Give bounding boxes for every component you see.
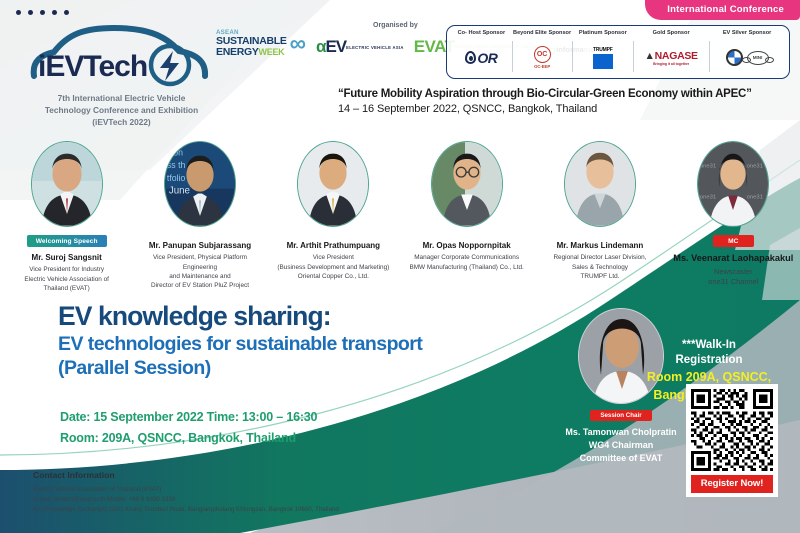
walkin-line1: ***Walk-In [634, 338, 784, 353]
session-chair-badge: Session Chair [590, 410, 651, 421]
session-title: EV knowledge sharing: EV technologies fo… [58, 302, 422, 381]
session-room-line: Room: 209A, QSNCC, Bangkok, Thailand [60, 428, 317, 449]
theme-line2: 14 – 16 September 2022, QSNCC, Bangkok, … [338, 103, 752, 115]
contact-heading: Contact Information [33, 470, 339, 480]
speaker-photo-2: tion ss th tfolio June [164, 141, 236, 227]
qr-code-icon[interactable] [691, 389, 773, 471]
speaker-name-1: Mr. Suroj Sangsnit [32, 253, 102, 263]
session-datetime: Date: 15 September 2022 Time: 13:00 – 16… [60, 407, 317, 448]
oc-eep-caption: OC-EEP [534, 64, 551, 69]
session-title-line1: EV knowledge sharing: [58, 302, 422, 332]
sponsor-col-beyond-elite: Beyond Elite Sponsor OC OC-EEP [512, 30, 573, 76]
svg-text:one31: one31 [700, 194, 716, 200]
contact-line1: Electric Vehicle Association of Thailand… [33, 485, 339, 495]
svg-text:tion: tion [169, 148, 183, 158]
speaker-photo-3 [297, 141, 369, 227]
session-title-line3: (Parallel Session) [58, 356, 422, 381]
oil-drop-icon [465, 51, 476, 64]
ievtech-logo-subtitle: 7th International Electric Vehicle Techn… [24, 92, 219, 128]
ievtech-logo-block: iEVTech 7th International Electric Vehic… [24, 24, 224, 128]
sponsor-col-ev-silver: EV Silver Sponsor MINI [709, 30, 785, 76]
contact-information: Contact Information Electric Vehicle Ass… [33, 470, 339, 515]
speaker-role-3: Vice President (Business Development and… [273, 253, 393, 281]
event-poster: International Conference iEVTech 7th Int… [0, 0, 800, 533]
speakers-row: Welcoming Speech Mr. Suroj Sangsnit Vice… [0, 141, 800, 293]
infinity-icon: ∞ [290, 34, 306, 52]
walkin-line2: Registration [634, 353, 784, 368]
sponsor-col-gold: Gold Sponsor ▲NAGASE Bringing it all tog… [633, 30, 709, 76]
nagase-text: NAGASE [655, 50, 698, 62]
theme-line1: “Future Mobility Aspiration through Bio-… [338, 88, 752, 100]
sponsor-col-cohost: Co- Host Sponsor OR [451, 30, 512, 76]
speaker-name-2: Mr. Panupan Subjarassang [149, 241, 251, 251]
trumpf-text: TRUMPF [593, 47, 613, 53]
speaker-badge-6: MC [713, 235, 753, 247]
svg-text:ss th: ss th [167, 160, 186, 170]
sponsor-panel: Co- Host Sponsor OR Beyond Elite Sponsor… [446, 25, 790, 79]
sponsor-title-gold: Gold Sponsor [653, 30, 690, 36]
conference-theme: “Future Mobility Aspiration through Bio-… [338, 88, 752, 115]
sponsor-title-cohost: Co- Host Sponsor [458, 30, 506, 36]
oc-ring-icon: OC [534, 46, 551, 63]
svg-text:June: June [169, 186, 190, 197]
trumpf-square-icon [593, 54, 613, 69]
speaker-name-4: Mr. Opas Noppornpitak [423, 241, 511, 251]
speaker-name-6: Ms. Veenarat Laohapakakul [673, 253, 793, 265]
speaker-name-3: Mr. Arthit Prathumpuang [287, 241, 380, 251]
ievtech-logo-mark: iEVTech [24, 24, 219, 90]
speaker-photo-4 [431, 141, 503, 227]
asean-line3b: WEEK [259, 47, 285, 57]
speaker-name-5: Mr. Markus Lindemann [557, 241, 644, 251]
session-chair-name: Ms. Tamonwan Cholpratin WG4 Chairman Com… [556, 426, 686, 465]
svg-text:one31: one31 [747, 163, 763, 169]
contact-line2: E-mail: ievtech@evat.or.th Mobile: +66 8… [33, 495, 339, 505]
speaker-card-3: Mr. Arthit Prathumpuang Vice President (… [267, 141, 400, 293]
sponsor-title-beyond-elite: Beyond Elite Sponsor [513, 30, 571, 36]
speaker-role-5: Regional Director Laser Division, Sales … [549, 253, 650, 281]
speaker-role-6: Newscaster one31 Channel [704, 267, 762, 288]
speaker-role-2: Vice President, Physical Platform Engine… [133, 253, 266, 290]
session-chair-name-line1: Ms. Tamonwan Cholpratin [556, 426, 686, 439]
logo-subtitle-line3: (iEVTech 2022) [24, 116, 219, 128]
or-text: OR [477, 50, 497, 66]
asean-line3: ENERGY [216, 46, 259, 58]
sponsor-title-ev-silver: EV Silver Sponsor [723, 30, 772, 36]
logo-subtitle-line2: Technology Conference and Exhibition [24, 104, 219, 116]
svg-text:one31: one31 [747, 194, 763, 200]
electric-vehicle-asia-logo: αEV ELECTRIC VEHICLE ASIA [316, 37, 404, 57]
speaker-card-5: Mr. Markus Lindemann Regional Director L… [533, 141, 666, 293]
nagase-tagline: Bringing it all together [645, 62, 698, 66]
speaker-photo-6: one31 one31 one31 one31 [697, 141, 769, 227]
bmw-logo-icon [726, 49, 743, 66]
speaker-role-1: Vice President for Industry Electric Veh… [20, 265, 113, 293]
logo-subtitle-line1: 7th International Electric Vehicle [24, 92, 219, 104]
speaker-card-6: one31 one31 one31 one31 MC Ms. Veenarat … [667, 141, 800, 293]
qr-registration-box[interactable]: Register Now! [686, 384, 778, 497]
trumpf-logo: TRUMPF [593, 47, 613, 69]
mini-logo-icon: MINI [747, 51, 769, 65]
organised-by-label: Organised by [373, 22, 418, 29]
nagase-triangle-icon: ▲ [645, 50, 655, 62]
international-conference-badge: International Conference [645, 0, 800, 20]
speaker-role-4: Manager Corporate Communications BMW Man… [405, 253, 527, 272]
speaker-card-4: Mr. Opas Noppornpitak Manager Corporate … [400, 141, 533, 293]
sponsor-title-platinum: Platinum Sponsor [579, 30, 627, 36]
session-title-line2: EV technologies for sustainable transpor… [58, 332, 422, 357]
speaker-badge-1: Welcoming Speech [27, 235, 107, 247]
session-chair-name-line2: WG4 Chairman [556, 439, 686, 452]
svg-text:iEVTech: iEVTech [38, 50, 147, 83]
asean-sustainable-energy-week-logo: ASEAN SUSTAINABLE ENERGYWEEK ∞ [216, 30, 306, 57]
speaker-photo-5 [564, 141, 636, 227]
session-chair-name-line3: Committee of EVAT [556, 452, 686, 465]
evasia-small: ELECTRIC VEHICLE ASIA [346, 45, 404, 50]
contact-line3: KX (Knowledge Exchange) 110/1 Krung Thon… [33, 505, 339, 515]
register-now-button[interactable]: Register Now! [691, 475, 773, 493]
session-date-line: Date: 15 September 2022 Time: 13:00 – 16… [60, 407, 317, 428]
svg-text:one31: one31 [700, 163, 716, 169]
speaker-photo-1 [31, 141, 103, 227]
nagase-logo: ▲NAGASE Bringing it all together [645, 50, 698, 66]
speaker-card-2: tion ss th tfolio June Mr. Panupan Subja… [133, 141, 266, 293]
evasia-big: EV [325, 37, 346, 56]
sponsor-col-platinum: Platinum Sponsor TRUMPF [572, 30, 633, 76]
speaker-card-1: Welcoming Speech Mr. Suroj Sangsnit Vice… [0, 141, 133, 293]
or-logo: OR [465, 50, 497, 66]
svg-text:tfolio: tfolio [167, 173, 186, 183]
decorative-dots [16, 10, 69, 15]
oc-eep-logo: OC OC-EEP [534, 46, 551, 69]
